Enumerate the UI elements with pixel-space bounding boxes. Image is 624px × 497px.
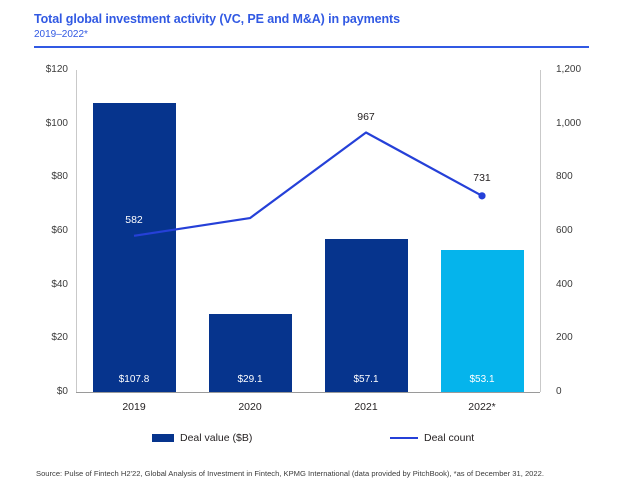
y-axis-left-tick-label: $80: [22, 172, 68, 182]
chart-plot-area: $0$20$40$60$80$100$12002004006008001,000…: [0, 0, 624, 497]
x-axis-line: [76, 392, 540, 393]
y-axis-left-tick-label: $0: [22, 387, 68, 397]
y-axis-right-tick-label: 1,200: [556, 65, 606, 75]
bar-2020: $29.1: [209, 314, 292, 392]
chart-page: Total global investment activity (VC, PE…: [0, 0, 624, 497]
legend-item-deal-count[interactable]: Deal count: [390, 432, 474, 444]
bar-2019: $107.8: [93, 103, 176, 392]
bar-value-label: $107.8: [93, 374, 176, 385]
legend-label: Deal value ($B): [180, 432, 252, 444]
bar-2021: $57.1: [325, 239, 408, 392]
y-axis-right-line: [540, 70, 541, 392]
y-axis-right-tick-label: 200: [556, 333, 606, 343]
y-axis-right-tick-label: 400: [556, 280, 606, 290]
line-point-label: 731: [442, 172, 522, 184]
y-axis-left-tick-label: $120: [22, 65, 68, 75]
chart-legend: Deal value ($B)Deal count: [0, 432, 624, 448]
line-point-label: 582: [94, 214, 174, 226]
bar-value-label: $29.1: [209, 374, 292, 385]
legend-label: Deal count: [424, 432, 474, 444]
legend-item-deal-value[interactable]: Deal value ($B): [152, 432, 252, 444]
bar-2022: $53.1: [441, 250, 524, 392]
y-axis-left-tick-label: $60: [22, 226, 68, 236]
bar-value-label: $53.1: [441, 374, 524, 385]
x-axis-tick-label: 2019: [94, 401, 174, 413]
deal-count-endpoint-marker: [478, 192, 485, 199]
x-axis-tick-label: 2021: [326, 401, 406, 413]
y-axis-right-tick-label: 0: [556, 387, 606, 397]
y-axis-left-tick-label: $40: [22, 280, 68, 290]
bar-value-label: $57.1: [325, 374, 408, 385]
y-axis-right-tick-label: 1,000: [556, 119, 606, 129]
legend-line-swatch-icon: [390, 437, 418, 439]
line-point-label: 967: [326, 111, 406, 123]
y-axis-right-tick-label: 800: [556, 172, 606, 182]
source-footnote: Source: Pulse of Fintech H2'22, Global A…: [36, 469, 616, 479]
y-axis-left-tick-label: $20: [22, 333, 68, 343]
legend-bar-swatch-icon: [152, 434, 174, 442]
y-axis-left-tick-label: $100: [22, 119, 68, 129]
x-axis-tick-label: 2020: [210, 401, 290, 413]
y-axis-left-line: [76, 70, 77, 392]
y-axis-right-tick-label: 600: [556, 226, 606, 236]
deal-count-line: [134, 133, 482, 236]
x-axis-tick-label: 2022*: [442, 401, 522, 413]
